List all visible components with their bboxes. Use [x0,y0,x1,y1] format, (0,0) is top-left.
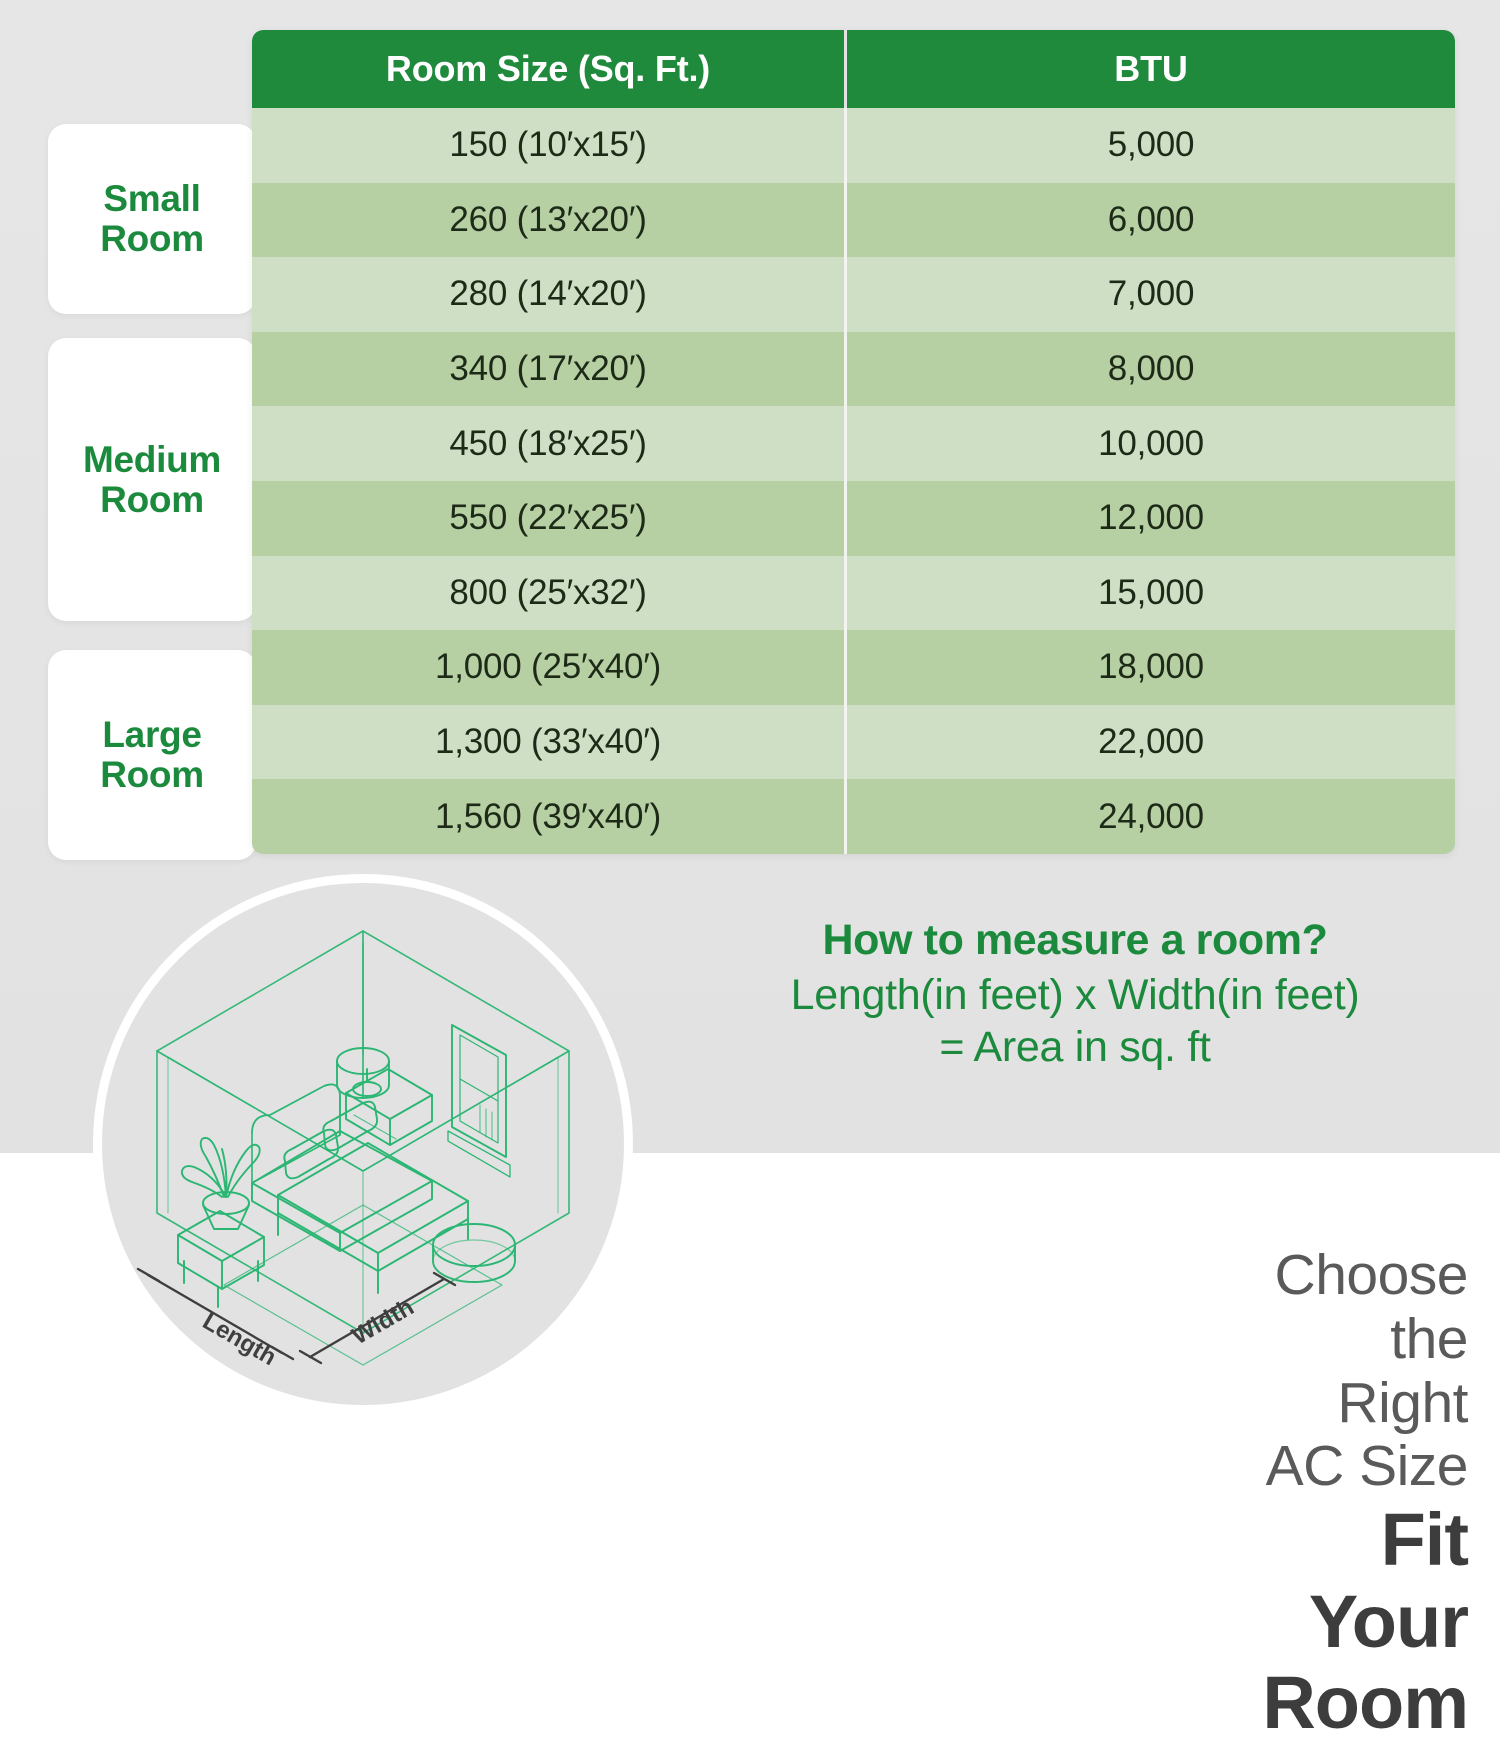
cell-btu: 6,000 [847,183,1455,258]
cell-room-size: 550 (22′x25′) [252,481,844,556]
isometric-room-diagram: Length Width [102,883,624,1405]
cell-room-size: 340 (17′x20′) [252,332,844,407]
cell-room-size: 1,560 (39′x40′) [252,779,844,854]
table-row: 550 (22′x25′)12,000 [252,481,1455,556]
cell-room-size: 1,000 (25′x40′) [252,630,844,705]
category-label-medium-room: Medium Room [83,440,221,520]
cell-btu: 18,000 [847,630,1455,705]
cell-btu: 15,000 [847,556,1455,631]
column-header-btu: BTU [847,30,1455,108]
column-header-room-size: Room Size (Sq. Ft.) [252,30,844,108]
cell-room-size: 1,300 (33′x40′) [252,705,844,780]
cell-room-size: 260 (13′x20′) [252,183,844,258]
how-to-measure-formula-line-1: Length(in feet) x Width(in feet) [690,969,1460,1021]
table-row: 260 (13′x20′)6,000 [252,183,1455,258]
width-dimension-label: Width [348,1294,419,1351]
room-illustration-circle: Length Width [93,874,633,1414]
category-card-medium-room: Medium Room [48,338,256,621]
cell-btu: 7,000 [847,257,1455,332]
category-label-small-room: Small Room [100,179,204,259]
how-to-measure-title: How to measure a room? [690,916,1460,965]
table-row: 280 (14′x20′)7,000 [252,257,1455,332]
cell-room-size: 280 (14′x20′) [252,257,844,332]
cell-btu: 5,000 [847,108,1455,183]
cell-room-size: 150 (10′x15′) [252,108,844,183]
category-card-small-room: Small Room [48,124,256,314]
table-header-row: Room Size (Sq. Ft.) BTU [252,30,1455,108]
table-body: 150 (10′x15′)5,000260 (13′x20′)6,000280 … [252,108,1455,854]
table-row: 1,560 (39′x40′)24,000 [252,779,1455,854]
category-label-large-room: Large Room [100,715,204,795]
table-row: 340 (17′x20′)8,000 [252,332,1455,407]
bottom-headline: Choose the Right AC Size Fit Your Room [1262,1244,1468,1743]
btu-sizing-table: Room Size (Sq. Ft.) BTU 150 (10′x15′)5,0… [252,30,1455,854]
table-row: 1,300 (33′x40′)22,000 [252,705,1455,780]
cell-btu: 8,000 [847,332,1455,407]
cell-btu: 12,000 [847,481,1455,556]
how-to-measure-formula-line-2: = Area in sq. ft [690,1021,1460,1073]
cell-room-size: 450 (18′x25′) [252,406,844,481]
table-row: 1,000 (25′x40′)18,000 [252,630,1455,705]
headline-line-top: Choose the Right AC Size [1262,1244,1468,1499]
cell-btu: 24,000 [847,779,1455,854]
table-row: 150 (10′x15′)5,000 [252,108,1455,183]
how-to-measure-block: How to measure a room? Length(in feet) x… [690,916,1460,1074]
category-card-large-room: Large Room [48,650,256,860]
headline-line-bottom: Fit Your Room [1262,1499,1468,1743]
table-row: 800 (25′x32′)15,000 [252,556,1455,631]
cell-btu: 22,000 [847,705,1455,780]
cell-room-size: 800 (25′x32′) [252,556,844,631]
table-row: 450 (18′x25′)10,000 [252,406,1455,481]
length-dimension-label: Length [198,1308,281,1371]
cell-btu: 10,000 [847,406,1455,481]
